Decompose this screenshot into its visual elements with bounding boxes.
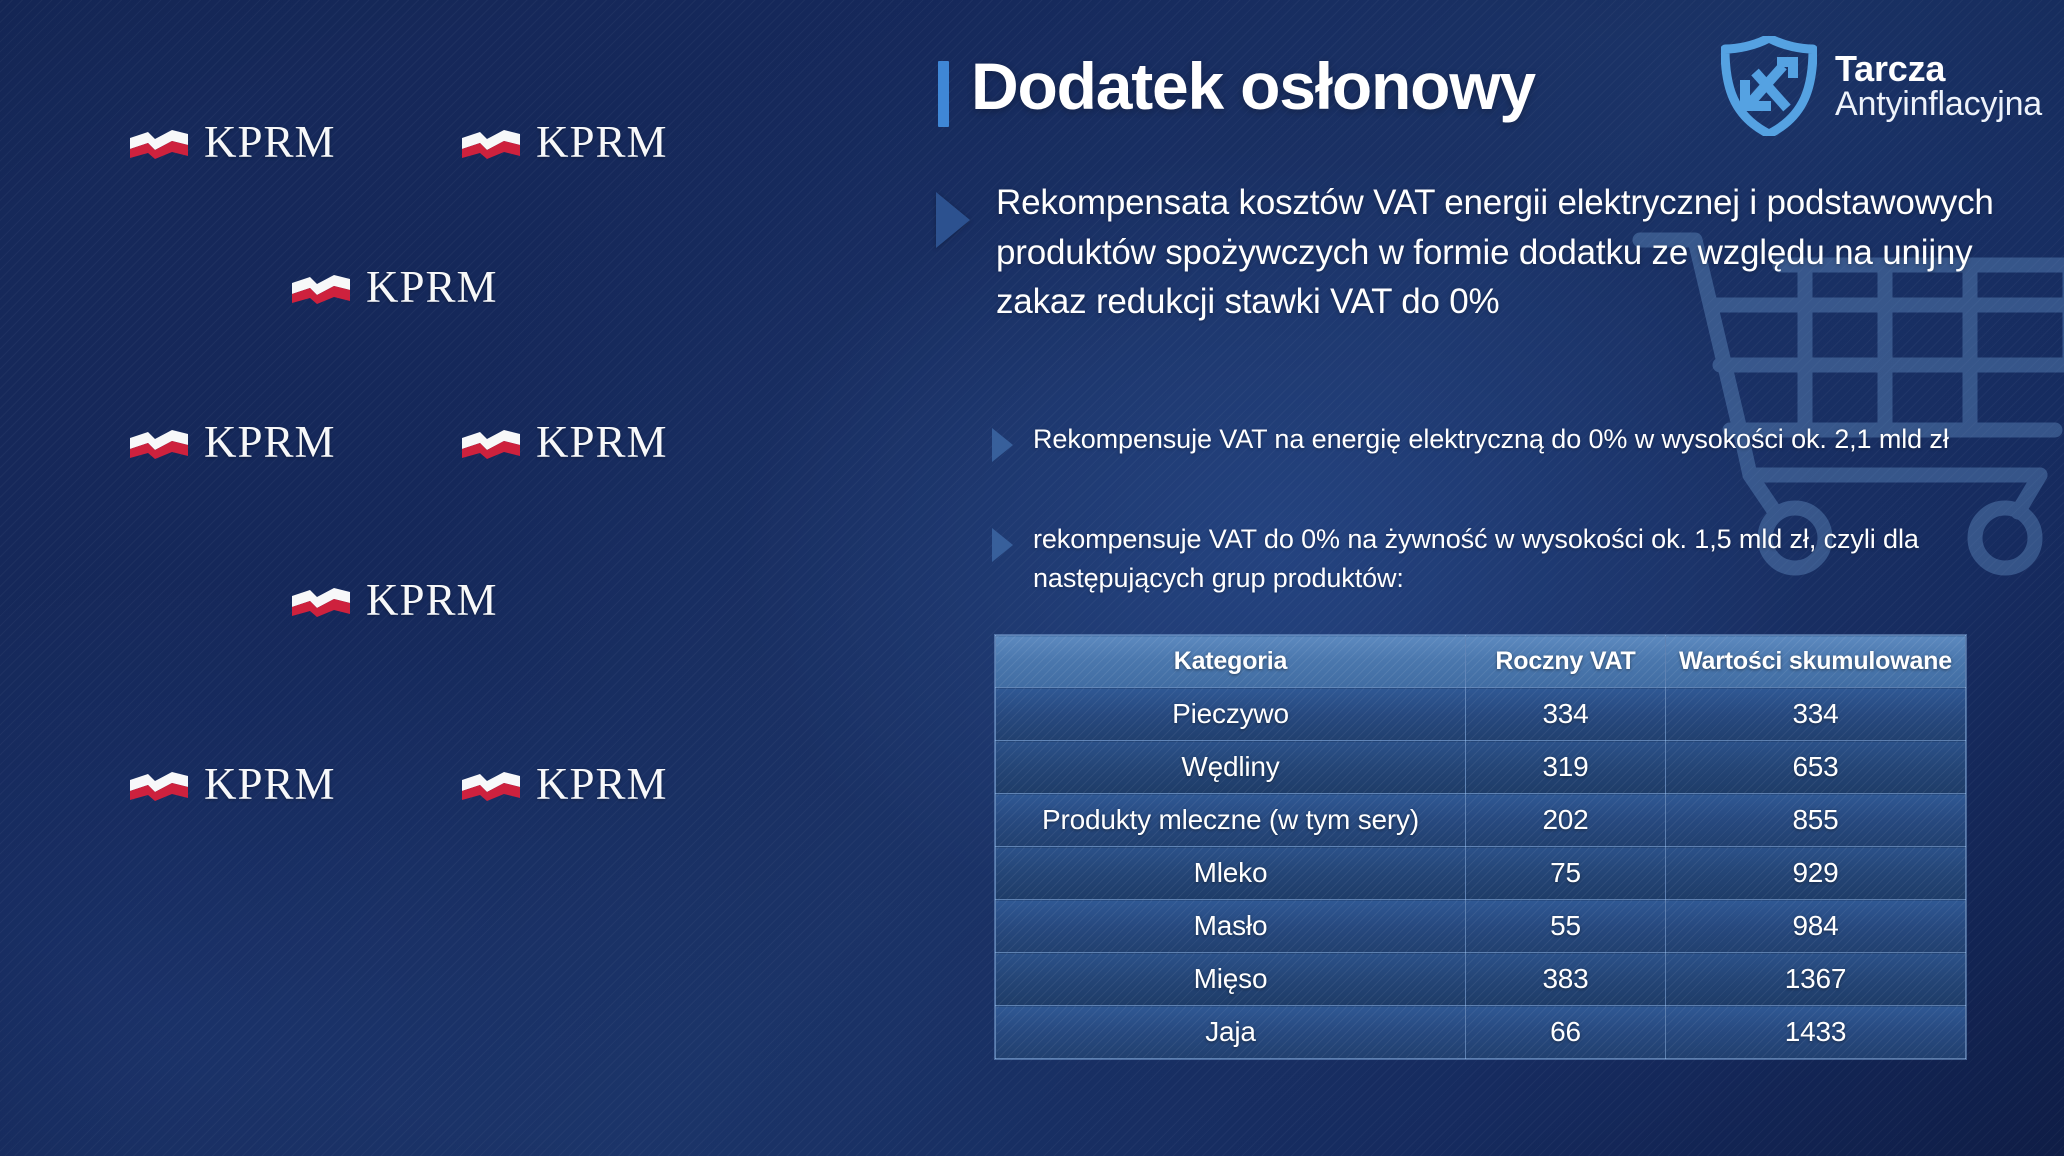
cell-kategoria: Produkty mleczne (w tym sery) bbox=[996, 794, 1466, 847]
triangle-right-icon bbox=[992, 528, 1013, 562]
cell-roczny-vat: 55 bbox=[1466, 900, 1666, 953]
cell-kategoria: Mleko bbox=[996, 847, 1466, 900]
cell-wartosci-skumulowane: 984 bbox=[1666, 900, 1966, 953]
cell-roczny-vat: 334 bbox=[1466, 688, 1666, 741]
logo-subtitle: Antyinflacyjna bbox=[1835, 87, 2042, 122]
table-row: Produkty mleczne (w tym sery)202855 bbox=[996, 794, 1966, 847]
page-title: Dodatek osłonowy bbox=[971, 52, 1535, 121]
cell-wartosci-skumulowane: 855 bbox=[1666, 794, 1966, 847]
cell-kategoria: Mięso bbox=[996, 953, 1466, 1006]
cell-wartosci-skumulowane: 1433 bbox=[1666, 1006, 1966, 1059]
shield-arrows-icon bbox=[1721, 36, 1817, 136]
page-title-row: Dodatek osłonowy bbox=[938, 52, 1535, 127]
vat-categories-table: Kategoria Roczny VAT Wartości skumulowan… bbox=[995, 635, 1966, 1059]
cell-kategoria: Pieczywo bbox=[996, 688, 1466, 741]
table-header-row: Kategoria Roczny VAT Wartości skumulowan… bbox=[996, 636, 1966, 688]
triangle-right-icon bbox=[936, 192, 970, 248]
table-row: Pieczywo334334 bbox=[996, 688, 1966, 741]
table-row: Wędliny319653 bbox=[996, 741, 1966, 794]
cell-kategoria: Masło bbox=[996, 900, 1466, 953]
cell-roczny-vat: 319 bbox=[1466, 741, 1666, 794]
table-row: Jaja661433 bbox=[996, 1006, 1966, 1059]
triangle-right-icon bbox=[992, 428, 1013, 462]
bullet-text-1: rekompensuje VAT do 0% na żywność w wyso… bbox=[1033, 520, 2064, 599]
cell-roczny-vat: 66 bbox=[1466, 1006, 1666, 1059]
content-layer: Tarcza Antyinflacyjna Dodatek osłonowy R… bbox=[0, 0, 2064, 1156]
cell-wartosci-skumulowane: 929 bbox=[1666, 847, 1966, 900]
cell-wartosci-skumulowane: 1367 bbox=[1666, 953, 1966, 1006]
table-row: Mleko75929 bbox=[996, 847, 1966, 900]
cell-kategoria: Jaja bbox=[996, 1006, 1466, 1059]
cell-kategoria: Wędliny bbox=[996, 741, 1466, 794]
lead-paragraph: Rekompensata kosztów VAT energii elektry… bbox=[996, 178, 2064, 327]
cell-roczny-vat: 383 bbox=[1466, 953, 1666, 1006]
bullet-item-0: Rekompensuje VAT na energię elektryczną … bbox=[992, 420, 1949, 462]
lead-paragraph-row: Rekompensata kosztów VAT energii elektry… bbox=[936, 178, 2064, 327]
bullet-text-0: Rekompensuje VAT na energię elektryczną … bbox=[1033, 420, 1949, 459]
bullet-item-1: rekompensuje VAT do 0% na żywność w wyso… bbox=[992, 520, 2064, 599]
cell-wartosci-skumulowane: 653 bbox=[1666, 741, 1966, 794]
title-accent-bar bbox=[938, 61, 949, 127]
cell-roczny-vat: 202 bbox=[1466, 794, 1666, 847]
column-header-wartosci-skumulowane: Wartości skumulowane bbox=[1666, 636, 1966, 688]
logo-title: Tarcza bbox=[1835, 50, 2042, 87]
cell-wartosci-skumulowane: 334 bbox=[1666, 688, 1966, 741]
cell-roczny-vat: 75 bbox=[1466, 847, 1666, 900]
column-header-kategoria: Kategoria bbox=[996, 636, 1466, 688]
column-header-roczny-vat: Roczny VAT bbox=[1466, 636, 1666, 688]
slide-canvas: KPRMKPRMKPRMKPRMKPRMKPRMKPRMKPRM Tarcza … bbox=[0, 0, 2064, 1156]
tarcza-antyinflacyjna-logo: Tarcza Antyinflacyjna bbox=[1721, 36, 2042, 136]
table-row: Masło55984 bbox=[996, 900, 1966, 953]
table-row: Mięso3831367 bbox=[996, 953, 1966, 1006]
